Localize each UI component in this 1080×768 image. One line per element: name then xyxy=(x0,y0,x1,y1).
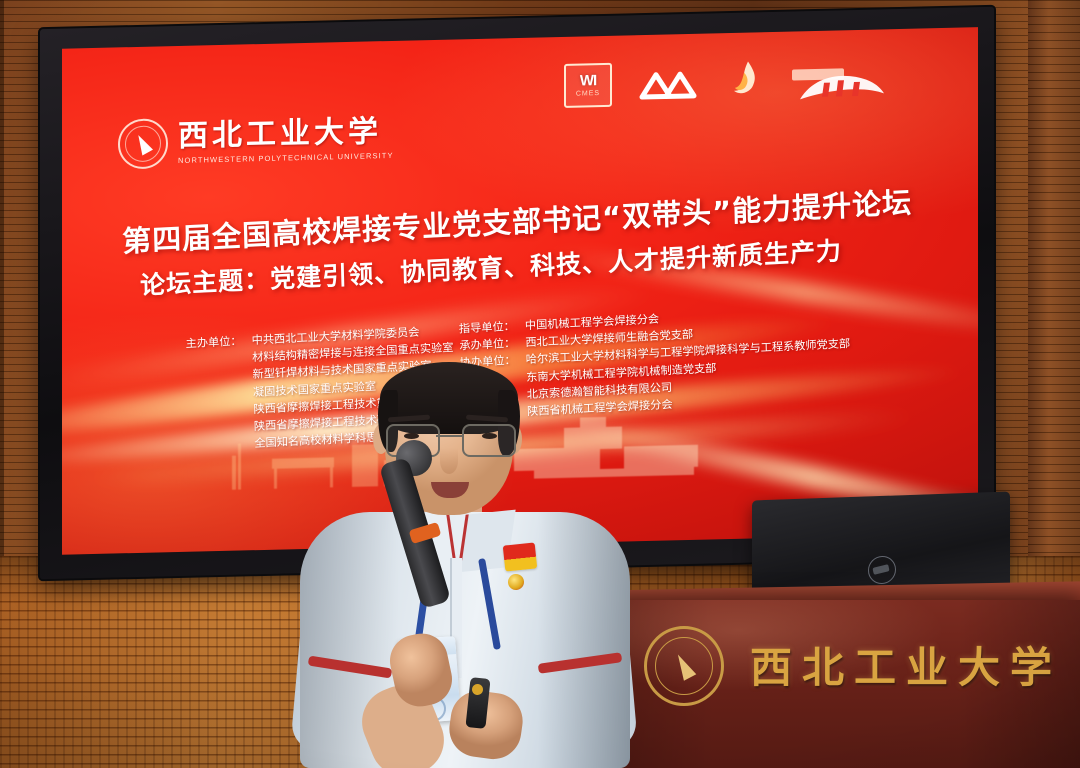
speaker xyxy=(300,362,630,768)
cmes-logo: WI CMES xyxy=(564,63,612,108)
npu-seal-icon xyxy=(644,626,724,706)
mountain-logo xyxy=(638,62,698,106)
wordmark-logo xyxy=(790,62,886,102)
flame-logo-icon xyxy=(724,58,764,99)
cmes-logo-caption: CMES xyxy=(576,90,600,98)
dell-logo-icon xyxy=(868,556,896,585)
podium-university-name: 西北工业大学 xyxy=(750,634,1062,695)
sponsor-logo-strip: WI CMES xyxy=(564,55,886,108)
right-wood-wall xyxy=(1028,0,1080,600)
mountain-logo-icon xyxy=(638,62,698,101)
university-masthead: 西北工业大学 NORTHWESTERN POLYTECHNICAL UNIVER… xyxy=(118,113,394,169)
cmes-logo-mark: WI xyxy=(580,73,596,88)
nose xyxy=(440,448,458,474)
wordmark-logo-icon xyxy=(790,63,886,101)
podium: 西北工业大学 xyxy=(592,600,1080,768)
organizer-label xyxy=(188,435,250,455)
university-name-cn: 西北工业大学 xyxy=(178,116,394,151)
eye-left xyxy=(404,433,419,439)
conference-photo: WI CMES xyxy=(0,0,1080,768)
party-flag-emblem-icon xyxy=(503,542,538,571)
flame-logo xyxy=(724,58,764,104)
eye-right xyxy=(482,433,497,439)
npu-seal-icon xyxy=(118,118,168,169)
